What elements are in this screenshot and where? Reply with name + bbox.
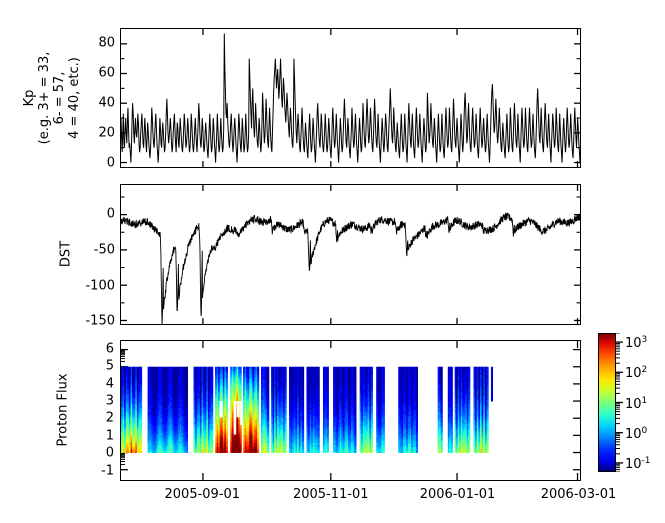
dst-line-plot: [121, 185, 580, 324]
kp-panel: [120, 28, 581, 168]
colorbar-exponent: 1: [642, 395, 648, 405]
colorbar-tick-label: 103: [625, 334, 647, 350]
kp-axis-label-l2: 6- = 57,: [52, 23, 67, 173]
colorbar-tick-label: 10-1: [625, 455, 651, 471]
colorbar-mantissa: 10: [625, 366, 642, 381]
colorbar-exponent: 3: [642, 335, 648, 345]
kp-axis-label-l0: Kp: [22, 23, 37, 173]
proton-flux-spectrogram: [121, 341, 580, 480]
colorbar-mantissa: 10: [625, 457, 642, 472]
colorbar-exponent: 0: [642, 426, 648, 436]
dst-panel: [120, 184, 581, 325]
colorbar-tick-label: 102: [625, 364, 647, 380]
kp-axis-label-l1: (e.g. 3+ = 33,: [37, 23, 52, 173]
figure-root: Kp (e.g. 3+ = 33, 6- = 57, 4 = 40, etc.)…: [0, 0, 665, 523]
colorbar-mantissa: 10: [625, 427, 642, 442]
proton-flux-axis-label: Proton Flux: [56, 355, 71, 465]
colorbar-tick-label: 101: [625, 394, 647, 410]
colorbar-mantissa: 10: [625, 336, 642, 351]
colorbar-tick-label: 100: [625, 425, 647, 441]
colorbar-mantissa: 10: [625, 397, 642, 412]
colorbar: [598, 333, 616, 472]
proton-flux-axis-label-l0: Proton Flux: [56, 355, 71, 465]
colorbar-exponent: 2: [642, 365, 648, 375]
colorbar-exponent: -1: [642, 456, 651, 466]
kp-line-plot: [121, 29, 580, 167]
proton-flux-panel: [120, 340, 581, 481]
kp-axis-label: Kp (e.g. 3+ = 33, 6- = 57, 4 = 40, etc.): [22, 23, 82, 173]
